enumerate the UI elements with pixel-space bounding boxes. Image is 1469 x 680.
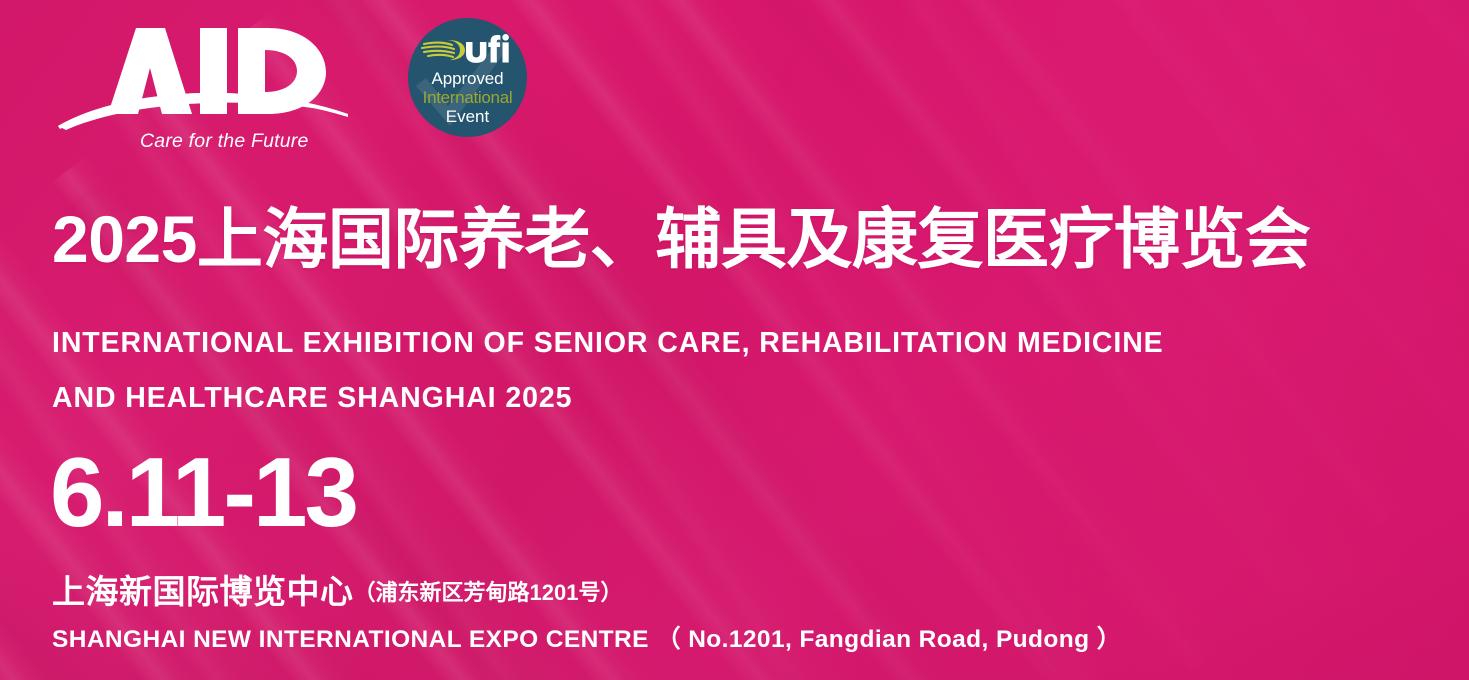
event-title-english-line1: INTERNATIONAL EXHIBITION OF SENIOR CARE,… — [52, 316, 1422, 371]
venue-chinese: 上海新国际博览中心（浦东新区芳甸路1201号） — [52, 565, 622, 613]
ufi-international-label: International — [408, 89, 527, 106]
event-title-english-line2: AND HEALTHCARE SHANGHAI 2025 — [52, 371, 1422, 426]
venue-english-name: SHANGHAI NEW INTERNATIONAL EXPO CENTRE — [52, 626, 649, 653]
event-title-chinese: 2025上海国际养老、辅具及康复医疗博览会 — [52, 206, 1310, 272]
event-title-english: INTERNATIONAL EXHIBITION OF SENIOR CARE,… — [52, 316, 1422, 425]
aid-logo-tagline: Care for the Future — [140, 130, 309, 153]
ufi-approved-event-badge[interactable]: Approved International Event — [408, 18, 527, 137]
event-banner: Care for the Future — [0, 0, 1469, 680]
venue-chinese-name: 上海新国际博览中心 — [52, 573, 354, 610]
event-date: 6.11-13 — [50, 443, 356, 541]
venue-english: SHANGHAI NEW INTERNATIONAL EXPO CENTRE （… — [52, 620, 1122, 655]
venue-english-address: （ No.1201, Fangdian Road, Pudong ） — [656, 626, 1122, 653]
ufi-event-label: Event — [408, 108, 527, 125]
ufi-approved-label: Approved — [408, 70, 527, 87]
venue-chinese-address: （浦东新区芳甸路1201号） — [354, 580, 623, 605]
aid-logo-icon — [52, 18, 352, 143]
ufi-logo-icon — [408, 34, 527, 68]
aid-logo[interactable]: Care for the Future — [52, 18, 352, 143]
